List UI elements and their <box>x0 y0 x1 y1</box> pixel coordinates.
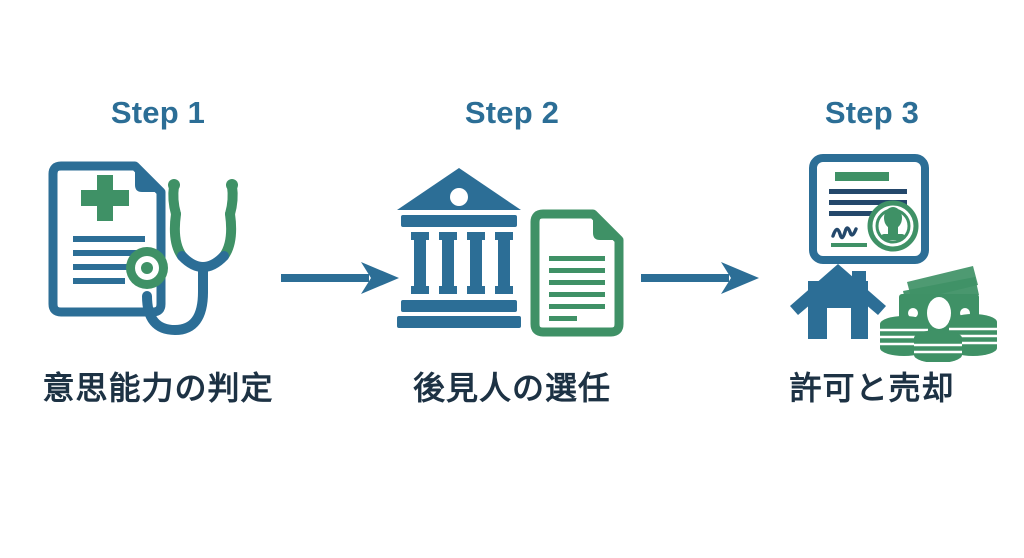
arrow-step2-to-step3 <box>641 258 763 303</box>
money-icon <box>880 266 997 362</box>
courthouse-icon <box>397 168 521 328</box>
step-2-artwork <box>362 152 662 370</box>
step-1-group: Step 1 <box>8 96 308 446</box>
step-2-caption: 後見人の選任 <box>362 370 662 407</box>
medical-record-document-icon <box>53 166 161 312</box>
arrow-step1-to-step2 <box>281 258 403 303</box>
step-3-group: Step 3 <box>722 96 1022 446</box>
step-3-artwork <box>722 152 1022 370</box>
step-2-heading: Step 2 <box>362 96 662 136</box>
step-3-caption: 許可と売却 <box>722 370 1022 407</box>
document-icon <box>535 214 619 332</box>
step-3-heading: Step 3 <box>722 96 1022 136</box>
certificate-icon <box>813 158 925 260</box>
step-2-group: Step 2 <box>362 96 662 446</box>
step-1-heading: Step 1 <box>8 96 308 136</box>
infographic-canvas: Step 1 <box>0 0 1024 558</box>
step-1-caption: 意思能力の判定 <box>8 370 308 407</box>
step-1-artwork <box>8 152 308 370</box>
house-icon <box>790 264 886 339</box>
